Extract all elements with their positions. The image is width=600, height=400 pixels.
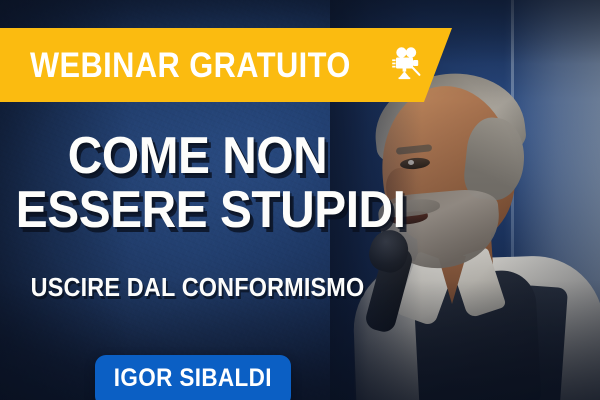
subheadline: USCIRE DAL CONFORMISMO: [20, 274, 376, 300]
webinar-banner: WEBINAR GRATUITO: [0, 28, 452, 102]
webinar-banner-label: WEBINAR GRATUITO: [30, 48, 351, 83]
headline-line-1: COME NON: [16, 132, 379, 182]
speaker-name-button[interactable]: IGOR SIBALDI: [95, 355, 291, 400]
speaker-name-label: IGOR SIBALDI: [114, 366, 272, 391]
headline-line-2: ESSERE STUPIDI: [16, 186, 379, 236]
movie-camera-icon: [388, 46, 422, 85]
webinar-promo-banner: WEBINAR GRATUITO: [0, 0, 600, 400]
headline: COME NON ESSERE STUPIDI: [0, 132, 395, 236]
